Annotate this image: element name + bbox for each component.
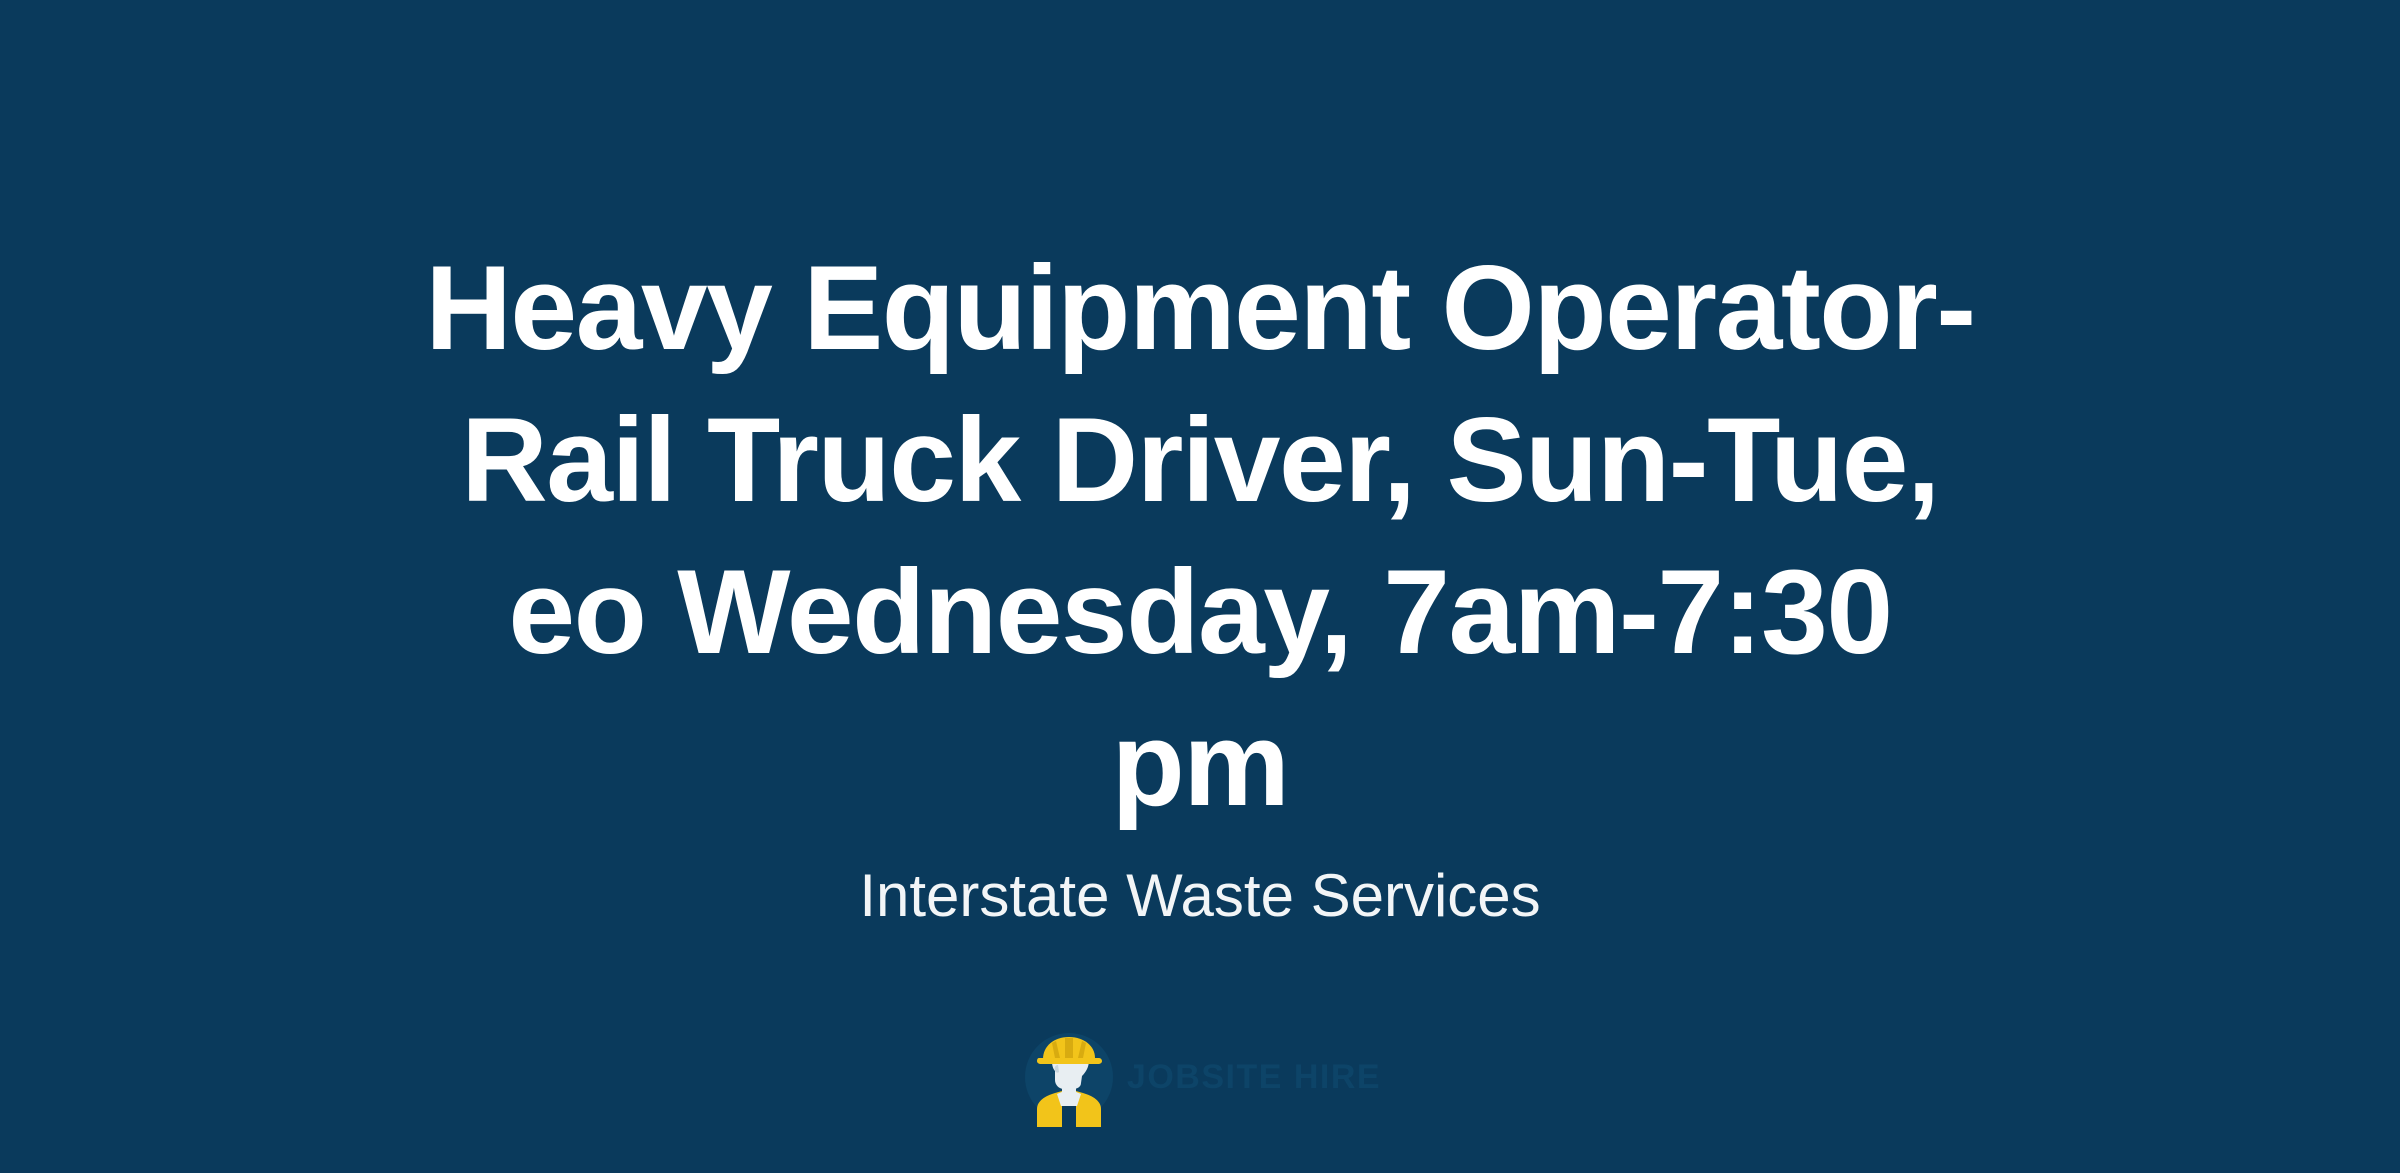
job-posting-card: Heavy Equipment Operator-Rail Truck Driv… (0, 0, 2400, 1173)
page-title: Heavy Equipment Operator-Rail Truck Driv… (420, 232, 1980, 840)
logo-wordmark: JOBSITE HIRE (1127, 1060, 1381, 1094)
posting-header: Heavy Equipment Operator-Rail Truck Driv… (0, 232, 2400, 934)
company-name: Interstate Waste Services (0, 858, 2400, 934)
brand-logo[interactable]: JOBSITE HIRE (0, 1027, 2400, 1127)
construction-worker-hardhat-icon (1019, 1027, 1119, 1127)
